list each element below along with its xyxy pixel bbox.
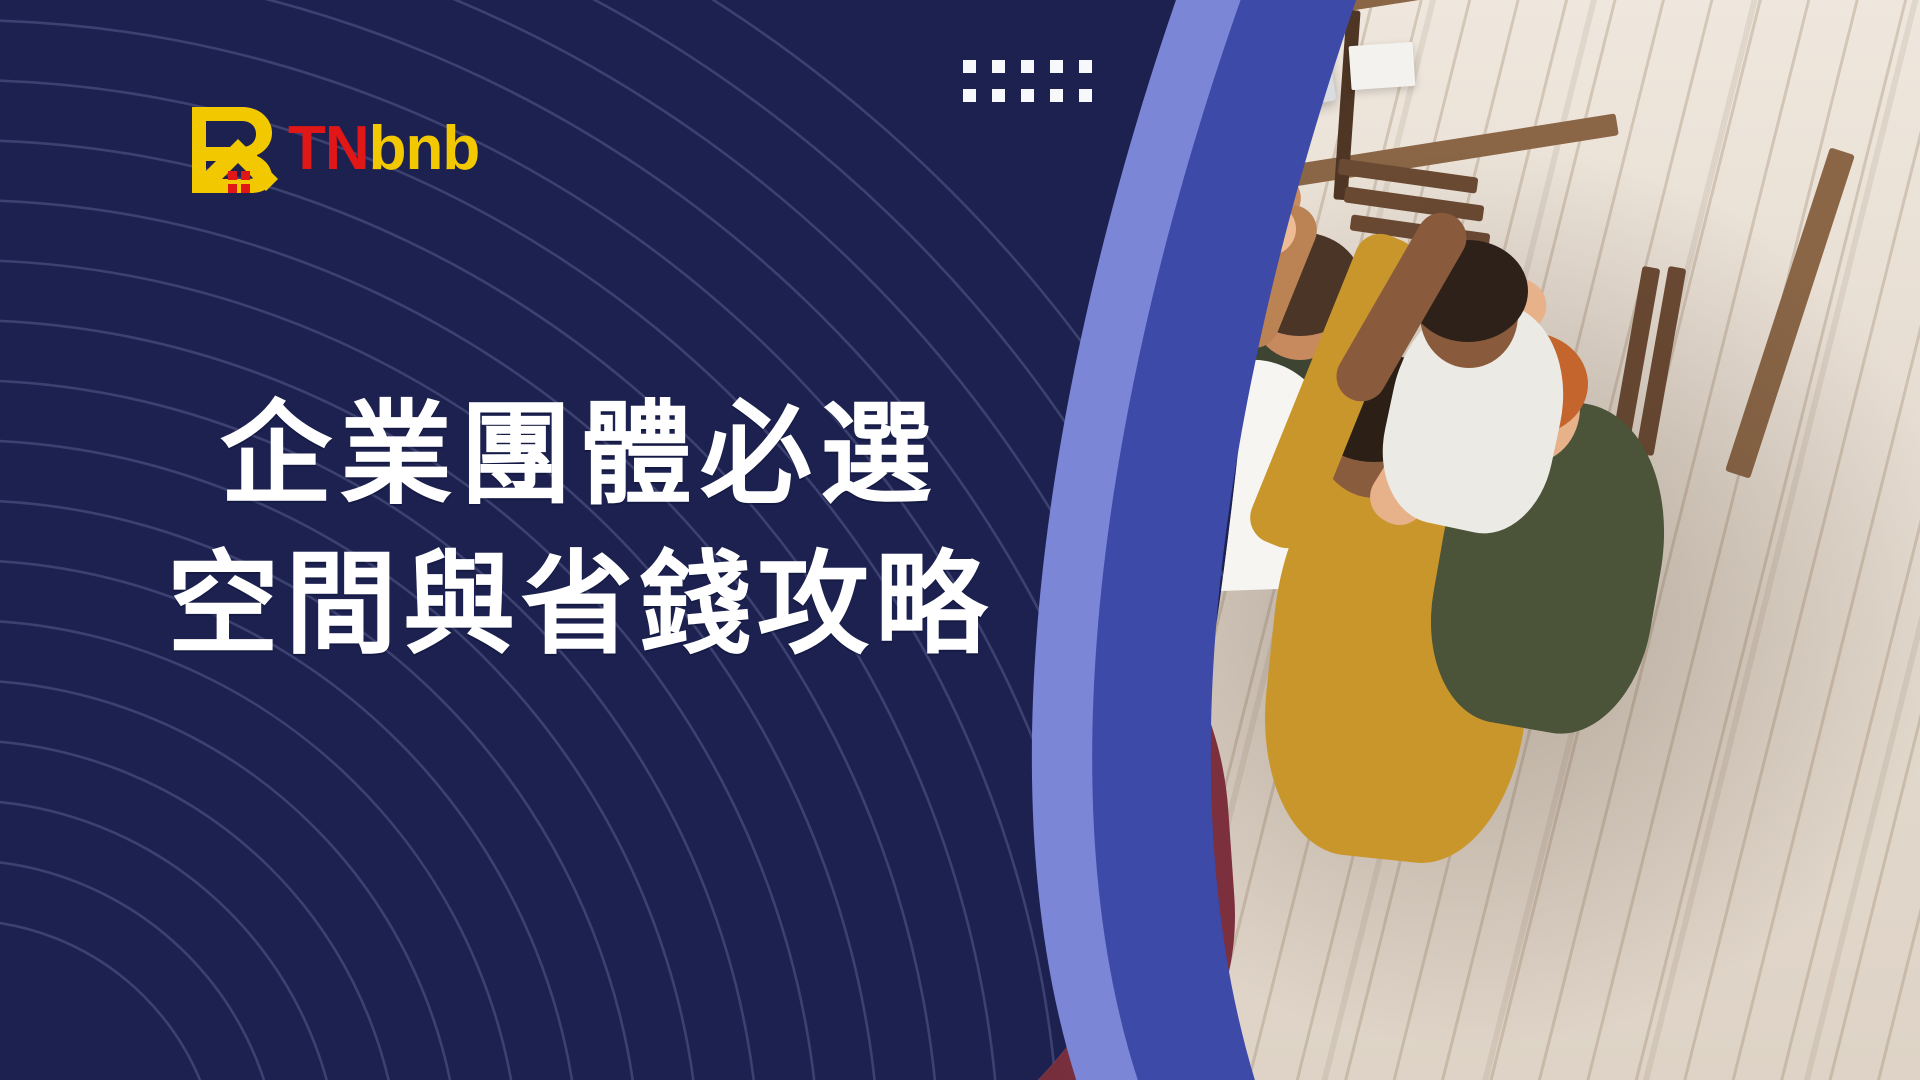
headline-line-1: 企業團體必選 [0,380,1160,530]
grid-dot [1079,60,1092,73]
promo-banner: TNbnb 企業團體必選 空間與省錢攻略 [0,0,1920,1080]
headline-line-2: 空間與省錢攻略 [0,530,1160,680]
grid-dot [963,60,976,73]
grid-dot [992,60,1005,73]
grid-dot [1021,60,1034,73]
grid-dot [1050,89,1063,102]
grid-dot [1079,89,1092,102]
brand-wordmark: TNbnb [288,118,479,180]
brand-wordmark-tn: TN [288,114,369,183]
btnbnb-house-b-logo-icon [186,103,282,195]
grid-dot [1050,60,1063,73]
headline-block: 企業團體必選 空間與省錢攻略 [0,380,1160,680]
brand-wordmark-bnb: bnb [369,114,480,183]
dot-grid-decoration [963,60,1092,102]
grid-dot [1021,89,1034,102]
grid-dot [992,89,1005,102]
brand-logo[interactable]: TNbnb [186,103,479,195]
grid-dot [963,89,976,102]
